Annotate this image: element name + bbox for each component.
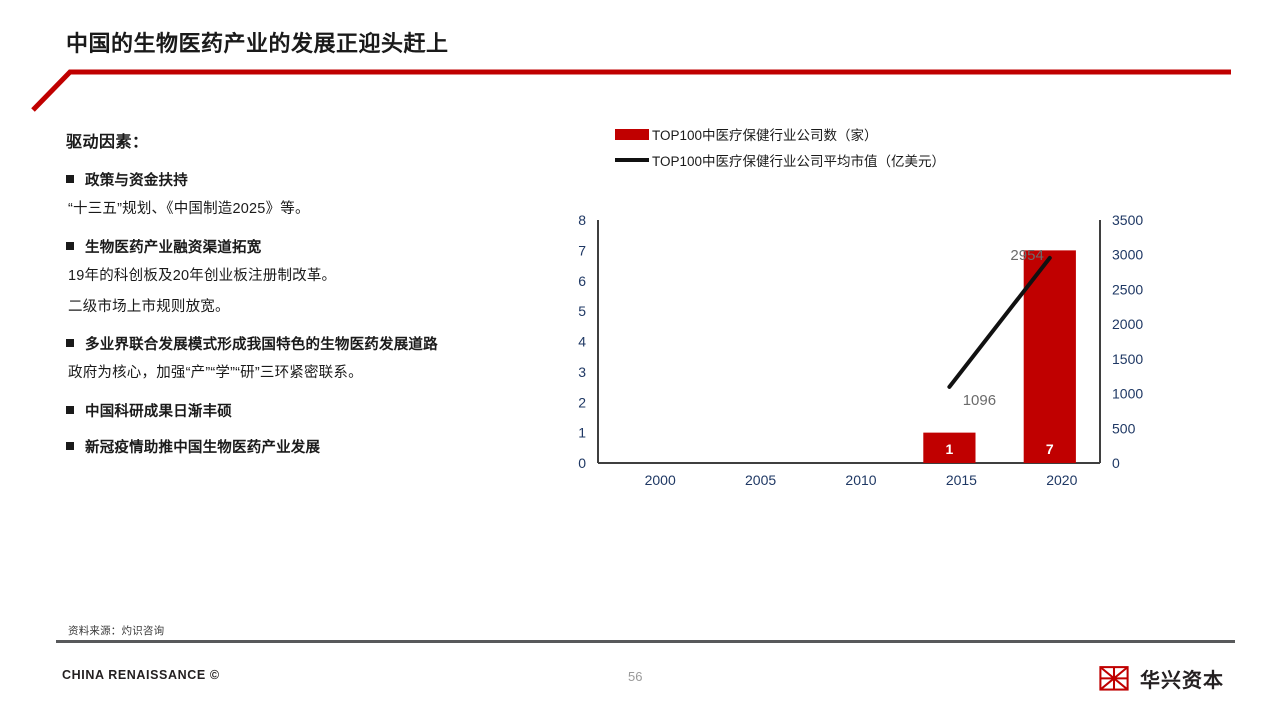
square-bullet-icon — [66, 175, 74, 183]
y-axis-left-tick-label: 4 — [578, 334, 586, 350]
legend-item-bar: TOP100中医疗保健行业公司数（家） — [615, 124, 945, 144]
title-accent-rule — [0, 58, 1280, 114]
legend-line-swatch-icon — [615, 158, 649, 162]
x-axis-tick-label: 2000 — [645, 472, 676, 488]
legend-bar-swatch-icon — [615, 129, 649, 140]
logo-wordmark: 华兴资本 — [1140, 664, 1224, 693]
combo-chart-svg: 0123456780500100015002000250030003500200… — [560, 210, 1220, 510]
drivers-heading: 驱动因素： — [66, 128, 556, 152]
page-title: 中国的生物医药产业的发展正迎头赶上 — [66, 26, 449, 58]
y-axis-left-tick-label: 1 — [578, 425, 586, 441]
driver-bullet-covid: 新冠疫情助推中国生物医药产业发展 — [66, 438, 556, 459]
bar-value-label: 7 — [1046, 441, 1054, 457]
legend-item-label: TOP100中医疗保健行业公司平均市值（亿美元） — [652, 150, 945, 170]
x-axis-tick-label: 2015 — [946, 472, 977, 488]
company-logo: 华兴资本 — [1097, 661, 1224, 695]
chart-panel: TOP100中医疗保健行业公司数（家） TOP100中医疗保健行业公司平均市值（… — [560, 124, 1220, 514]
footer-divider — [56, 640, 1235, 643]
cube-logo-icon — [1097, 661, 1131, 695]
y-axis-right-tick-label: 2500 — [1112, 281, 1143, 297]
driver-detail-policy: “十三五”规划、《中国制造2025》等。 — [68, 199, 556, 221]
x-axis-tick-label: 2010 — [845, 472, 876, 488]
square-bullet-icon — [66, 242, 74, 250]
driver-detail-government: 政府为核心，加强“产”“学”“研”三环紧密联系。 — [68, 363, 556, 385]
square-bullet-icon — [66, 339, 74, 347]
driver-bullet-research: 中国科研成果日渐丰硕 — [66, 402, 556, 423]
y-axis-right-tick-label: 1000 — [1112, 386, 1143, 402]
legend-item-line: TOP100中医疗保健行业公司平均市值（亿美元） — [615, 150, 945, 170]
driver-bullet-label: 多业界联合发展模式形成我国特色的生物医药发展道路 — [85, 335, 438, 356]
y-axis-left-tick-label: 2 — [578, 394, 586, 410]
y-axis-right-tick-label: 500 — [1112, 420, 1136, 436]
square-bullet-icon — [66, 442, 74, 450]
y-axis-right-tick-label: 1500 — [1112, 351, 1143, 367]
source-note: 资料来源：灼识咨询 — [68, 623, 164, 638]
legend-item-label: TOP100中医疗保健行业公司数（家） — [652, 124, 878, 144]
square-bullet-icon — [66, 406, 74, 414]
footer-brand: CHINA RENAISSANCE © — [62, 668, 220, 682]
drivers-panel: 驱动因素： 政策与资金扶持 “十三五”规划、《中国制造2025》等。 生物医药产… — [66, 128, 556, 466]
driver-bullet-label: 新冠疫情助推中国生物医药产业发展 — [85, 438, 320, 459]
driver-detail-starmarket: 19年的科创板及20年创业板注册制改革。 — [68, 266, 556, 288]
y-axis-left-tick-label: 7 — [578, 242, 586, 258]
y-axis-left-tick-label: 5 — [578, 303, 586, 319]
driver-bullet-financing: 生物医药产业融资渠道拓宽 — [66, 238, 556, 259]
line-value-label: 2954 — [1010, 247, 1043, 264]
chart-plot-area: 0123456780500100015002000250030003500200… — [560, 210, 1220, 510]
y-axis-right-tick-label: 0 — [1112, 455, 1120, 471]
driver-bullet-label: 政策与资金扶持 — [85, 171, 188, 192]
y-axis-right-tick-label: 2000 — [1112, 316, 1143, 332]
x-axis-tick-label: 2005 — [745, 472, 776, 488]
driver-bullet-collaboration: 多业界联合发展模式形成我国特色的生物医药发展道路 — [66, 335, 556, 356]
driver-bullet-label: 生物医药产业融资渠道拓宽 — [85, 238, 261, 259]
chart-legend: TOP100中医疗保健行业公司数（家） TOP100中医疗保健行业公司平均市值（… — [615, 124, 945, 176]
driver-bullet-label: 中国科研成果日渐丰硕 — [85, 402, 232, 423]
driver-bullet-policy: 政策与资金扶持 — [66, 171, 556, 192]
y-axis-left-tick-label: 0 — [578, 455, 586, 471]
y-axis-left-tick-label: 6 — [578, 273, 586, 289]
line-value-label: 1096 — [963, 392, 996, 409]
y-axis-right-tick-label: 3500 — [1112, 212, 1143, 228]
page-number: 56 — [628, 669, 642, 684]
driver-detail-secondary-market: 二级市场上市规则放宽。 — [68, 297, 556, 319]
y-axis-left-tick-label: 3 — [578, 364, 586, 380]
bar-value-label: 1 — [946, 441, 954, 457]
y-axis-right-tick-label: 3000 — [1112, 247, 1143, 263]
slide-root: 中国的生物医药产业的发展正迎头赶上 驱动因素： 政策与资金扶持 “十三五”规划、… — [0, 0, 1280, 720]
x-axis-tick-label: 2020 — [1046, 472, 1077, 488]
y-axis-left-tick-label: 8 — [578, 212, 586, 228]
